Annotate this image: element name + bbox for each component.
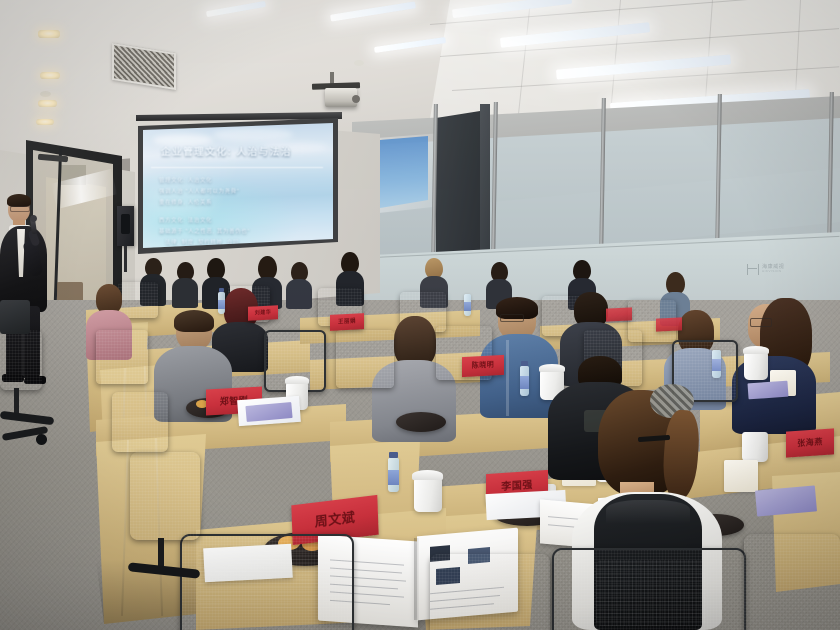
eyeglasses-icon [750, 318, 772, 327]
slide-bullet: 基础源于 "人之性恶, 其为善伪也" [159, 227, 250, 235]
smoke-detector-icon [354, 60, 364, 66]
water-bottle [464, 294, 471, 316]
tissue-box [724, 460, 758, 492]
tent-card-name: 张海燕 [786, 428, 834, 457]
recessed-downlight [38, 100, 57, 107]
slide-content: 企业管理文化: 人治与法治 管理文化: 人治文化 强调人治 "人人都可以为尧舜"… [143, 122, 333, 248]
speaker-stand [124, 246, 127, 272]
ceramic-mug [742, 432, 768, 462]
notebook [755, 485, 817, 516]
bottle-cap [521, 361, 528, 366]
office-chair [130, 452, 200, 540]
table-tent-card: 刘建华 [248, 305, 278, 321]
monitor-or-chair-arm [0, 300, 30, 334]
ceramic-mug [744, 352, 768, 380]
office-chair [0, 330, 42, 390]
mug-lid [285, 376, 309, 384]
projector-lens-icon [352, 95, 360, 103]
slide-divider [151, 167, 323, 168]
tent-card-name: 陈晓明 [462, 355, 504, 377]
table-tent-card: 陈晓明 [462, 355, 504, 377]
slide-title: 企业管理文化: 人治与法治 [161, 144, 292, 158]
company-logo-mark [747, 264, 759, 275]
table-tent-card [606, 307, 632, 321]
office-chair [744, 534, 840, 630]
office-chair [112, 392, 168, 452]
ceramic-mug [414, 478, 442, 512]
slide-bullet: 重在修身, 人伦关系 [159, 198, 212, 206]
chair-caster [36, 434, 47, 445]
mug-lid [412, 470, 443, 480]
attendee-back-row [172, 262, 198, 306]
microphone-head [30, 215, 37, 222]
attendee-back-row [286, 262, 312, 308]
tent-card-name: 刘建华 [248, 305, 278, 321]
slide-bullet: 西方文化: 法治文化 [159, 216, 212, 224]
table-tent-card [656, 317, 682, 331]
recessed-downlight [38, 30, 60, 38]
projection-screen: 企业管理文化: 人治与法治 管理文化: 人治文化 强调人治 "人人都可以为尧舜"… [143, 122, 333, 248]
slide-bullet: 强调人治 "人人都可以为尧舜" [159, 187, 240, 195]
smoke-detector-icon [40, 91, 51, 97]
bottle-cap [219, 288, 224, 292]
company-logo-on-glass: 海康威视 HIKVISION [747, 262, 799, 276]
office-chair [336, 330, 394, 388]
training-room-photo: 海康威视 HIKVISION 企业管理文化: 人治与法治 管理文化: 人治文化 … [0, 0, 840, 630]
chair-mesh-panel [198, 548, 332, 608]
office-chair [430, 554, 550, 630]
slide-bullet: 管理文化: 人治文化 [159, 176, 212, 184]
water-bottle [388, 458, 399, 492]
water-bottle [712, 350, 721, 378]
mug-lid [743, 346, 769, 354]
eyeglasses-icon [500, 314, 524, 322]
fruit-bowl [396, 412, 446, 432]
tent-card-name: 王丽娟 [330, 313, 364, 331]
notebook [747, 381, 788, 400]
table-tent-card: 王丽娟 [330, 313, 364, 331]
chair-mesh-panel [596, 560, 706, 626]
office-chair [96, 330, 148, 384]
table-tent-card: 张海燕 [786, 428, 834, 457]
speaker-cone-icon [121, 214, 130, 234]
bottle-cap [389, 452, 398, 458]
recessed-downlight [40, 72, 60, 79]
recessed-downlight [36, 119, 54, 125]
water-bottle [218, 292, 225, 314]
water-bottle [520, 366, 529, 396]
company-logo-subtext: HIKVISION [762, 270, 784, 273]
